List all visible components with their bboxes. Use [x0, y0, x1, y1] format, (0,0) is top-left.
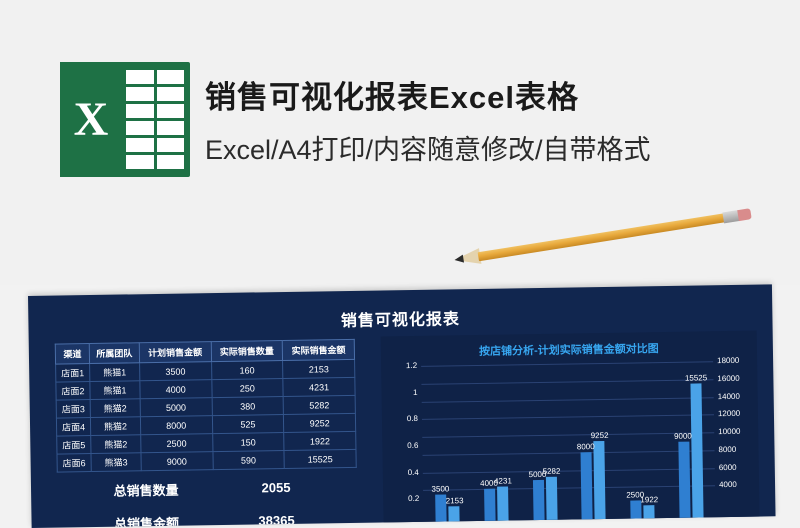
- chart-bar-value-actual: 4231: [494, 477, 512, 486]
- table-cell: 525: [212, 414, 284, 433]
- chart-y-tick-right: 18000: [717, 356, 753, 366]
- table-cell: 4231: [283, 377, 355, 396]
- chart-gridline: [422, 397, 714, 403]
- table-cell: 2500: [141, 434, 213, 453]
- chart-y-tick-left: 0.4: [389, 468, 419, 477]
- table-cell: 熊猫3: [91, 453, 141, 472]
- sales-table-wrapper: 渠道所属团队计划销售金额实际销售数量实际销售金额 店面1熊猫1350016021…: [55, 339, 357, 473]
- table-cell: 熊猫2: [90, 399, 140, 418]
- table-row: 店面6熊猫3900059015525: [57, 449, 356, 472]
- chart-bar-value-plan: 9000: [674, 432, 692, 441]
- chart-plot-area: 18000160001400012000100008000600040001.2…: [421, 361, 715, 526]
- table-cell: 店面6: [57, 454, 91, 473]
- table-cell: 店面5: [57, 436, 91, 455]
- chart-bar-plan: [678, 442, 690, 522]
- table-cell: 15525: [284, 449, 356, 468]
- chart-bar-actual: [497, 487, 509, 525]
- table-cell: 9252: [284, 413, 356, 432]
- total-value: 2055: [221, 479, 331, 496]
- chart-y-tick-right: 8000: [718, 444, 754, 454]
- chart-bar-value-actual: 2153: [446, 496, 464, 505]
- table-cell: 150: [212, 432, 284, 451]
- table-cell: 9000: [141, 452, 213, 471]
- chart-gridline: [423, 450, 715, 456]
- excel-logo-letter: X: [60, 62, 122, 177]
- table-column-header: 计划销售金额: [139, 342, 211, 363]
- chart-gridline: [421, 361, 713, 367]
- chart-y-tick-left: 1: [387, 388, 417, 397]
- chart-bar-value-actual: 9252: [591, 431, 609, 440]
- table-cell: 160: [211, 361, 283, 380]
- table-column-header: 所属团队: [89, 343, 139, 364]
- table-cell: 3500: [139, 362, 211, 381]
- chart-bar-plan: [484, 489, 496, 525]
- table-column-header: 渠道: [55, 344, 89, 365]
- chart-y-tick-left: 0.6: [388, 441, 418, 450]
- total-label: 总销售数量: [71, 479, 221, 500]
- total-row: 总销售数量2055: [71, 477, 371, 501]
- chart-baseline: [424, 520, 716, 526]
- chart-y-tick-right: 4000: [719, 480, 755, 490]
- chart-bar-actual: [449, 506, 460, 525]
- chart-gridline: [421, 379, 713, 385]
- chart-bar-value-actual: 1922: [640, 495, 658, 504]
- chart-y-tick-right: 6000: [719, 462, 755, 472]
- table-cell: 8000: [140, 416, 212, 435]
- table-cell: 店面2: [56, 382, 90, 401]
- chart-y-tick-right: 10000: [718, 427, 754, 437]
- table-column-header: 实际销售金额: [282, 339, 354, 360]
- excel-logo-icon: X: [60, 62, 190, 177]
- table-cell: 590: [213, 450, 285, 469]
- chart-gridline: [423, 486, 715, 492]
- chart-gridline: [423, 468, 715, 474]
- chart-bar-actual: [594, 441, 606, 523]
- table-cell: 熊猫2: [90, 417, 140, 436]
- chart-gridline: [422, 415, 714, 421]
- chart-panel: 按店铺分析-计划实际销售金额对比图 1800016000140001200010…: [381, 331, 760, 528]
- sales-table: 渠道所属团队计划销售金额实际销售数量实际销售金额 店面1熊猫1350016021…: [55, 339, 357, 473]
- table-cell: 店面4: [56, 418, 90, 437]
- chart-y-tick-left: 0.2: [389, 494, 419, 503]
- table-cell: 5282: [283, 395, 355, 414]
- chart-bar-plan: [581, 452, 593, 523]
- chart-bar-value-plan: 3500: [431, 484, 449, 493]
- chart-title: 按店铺分析-计划实际销售金额对比图: [381, 339, 757, 361]
- chart-bar-value-actual: 5282: [543, 467, 561, 476]
- chart-bar-value-actual: 15525: [685, 373, 707, 382]
- table-cell: 250: [211, 379, 283, 398]
- table-column-header: 实际销售数量: [211, 341, 283, 362]
- chart-bar-value-plan: 8000: [577, 442, 595, 451]
- table-cell: 熊猫1: [90, 381, 140, 400]
- page-title: 销售可视化报表Excel表格: [205, 72, 579, 117]
- total-row: 总销售金额38365: [71, 510, 371, 528]
- chart-bar-actual: [690, 383, 703, 521]
- chart-y-tick-left: 1.2: [387, 361, 417, 370]
- chart-y-tick-right: 14000: [718, 391, 754, 401]
- page-subtitle: Excel/A4打印/内容随意修改/自带格式: [205, 128, 651, 167]
- chart-bar-plan: [533, 479, 545, 524]
- totals-block: 总销售数量2055总销售金额38365: [71, 477, 372, 528]
- table-cell: 店面1: [56, 364, 90, 383]
- chart-bar-actual: [546, 477, 558, 524]
- table-cell: 1922: [284, 431, 356, 450]
- chart-gridline: [422, 432, 714, 438]
- excel-logo-grid: [126, 70, 184, 169]
- table-cell: 4000: [140, 380, 212, 399]
- report-title: 销售可视化报表: [28, 300, 772, 336]
- table-cell: 熊猫2: [91, 435, 141, 454]
- chart-y-tick-left: 0.8: [388, 414, 418, 423]
- table-cell: 2153: [283, 359, 355, 378]
- chart-y-tick-right: 16000: [717, 373, 753, 383]
- report-sheet: 销售可视化报表 渠道所属团队计划销售金额实际销售数量实际销售金额 店面1熊猫13…: [28, 284, 776, 528]
- table-cell: 380: [212, 397, 284, 416]
- chart-y-tick-right: 12000: [718, 409, 754, 419]
- table-cell: 熊猫1: [90, 363, 140, 382]
- table-cell: 5000: [140, 398, 212, 417]
- table-cell: 店面3: [56, 400, 90, 419]
- promo-banner: X 销售可视化报表Excel表格 Excel/A4打印/内容随意修改/自带格式: [0, 0, 800, 285]
- chart-bar-actual: [643, 505, 654, 522]
- pencil-icon: [453, 201, 754, 278]
